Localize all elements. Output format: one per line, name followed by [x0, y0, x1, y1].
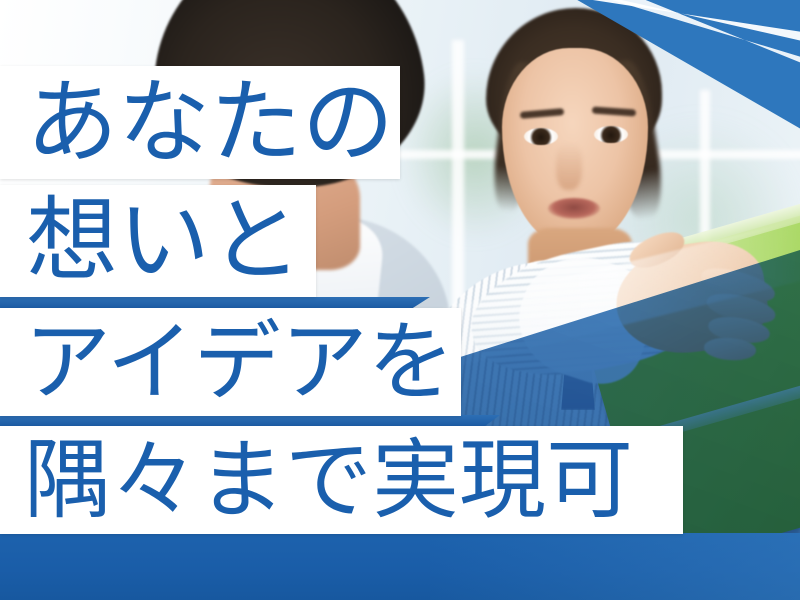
headline-band-2: 想いと — [0, 185, 316, 297]
headline-line-1: あなたの — [26, 77, 394, 169]
band-separator-2 — [0, 415, 500, 426]
headline-line-2: 想いと — [26, 195, 302, 287]
promo-banner: あなたの 想いと アイデアを 隅々まで実現可 — [0, 0, 800, 600]
band-separator-1 — [0, 297, 430, 308]
headline-line-3: アイデアを — [24, 319, 455, 406]
facing-man-nose — [556, 142, 582, 190]
facing-man-mouth — [548, 198, 600, 219]
facing-man-eye-right — [594, 126, 628, 143]
headline-band-4: 隅々まで実現可 — [0, 426, 683, 534]
headline-band-1: あなたの — [0, 66, 400, 179]
headline-line-4: 隅々まで実現可 — [24, 437, 633, 524]
facing-man-eye-left — [524, 128, 558, 145]
headline-band-3: アイデアを — [0, 308, 461, 416]
